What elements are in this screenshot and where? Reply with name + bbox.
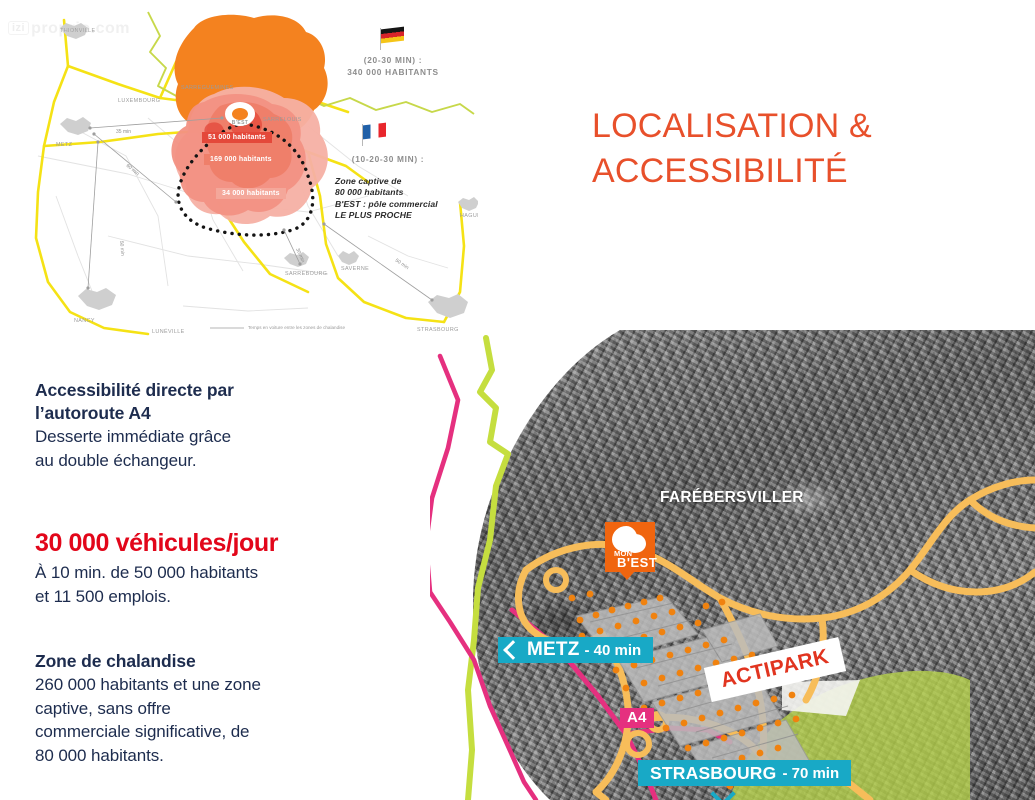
city-label: NANCY: [74, 318, 95, 324]
regional-catchment-map: B'EST: [8, 6, 478, 338]
city-label: SARRELOUIS: [263, 117, 302, 123]
zone-chip-label: 51 000 habitants: [208, 134, 266, 141]
page-title: LOCALISATION & ACCESSIBILITÉ: [592, 104, 1012, 194]
info-block-heading: Accessibilité directe par l’autoroute A4: [35, 379, 365, 425]
info-block-heading: 30 000 véhicules/jour: [35, 527, 395, 559]
zone-chip-label: 169 000 habitants: [210, 156, 272, 163]
zone-chip-51000: 51 000 habitants: [202, 132, 272, 143]
destination-time: - 40 min: [585, 642, 642, 659]
town-label-farebersviller: FARÉBERSVILLER: [660, 489, 804, 507]
city-label: LUXEMBOURG: [118, 98, 160, 104]
aerial-photo: [430, 330, 1035, 800]
map-legend-text: Temps en voiture entre les zones de chal…: [248, 325, 345, 330]
city-label: LUNÉVILLE: [152, 328, 185, 335]
captive-zone-note: Zone captive de 80 000 habitants B'EST :…: [335, 176, 478, 222]
destination-time: - 70 min: [782, 765, 839, 782]
slide-canvas: B'EST: [0, 0, 1035, 800]
info-block-traffic: 30 000 véhicules/jour À 10 min. de 50 00…: [35, 527, 395, 608]
city-label: METZ: [56, 142, 73, 148]
city-label: SARREBOURG: [285, 271, 327, 277]
zone-chip-169000: 169 000 habitants: [204, 154, 278, 165]
destination-name: METZ: [527, 639, 580, 661]
city-label: SARREGUEMINES: [181, 85, 234, 91]
info-block-body: 260 000 habitants et une zone captive, s…: [35, 673, 375, 767]
destination-badge-strasbourg[interactable]: STRASBOURG - 70 min: [638, 760, 851, 786]
france-catchment-note: (10-20-30 MIN) :: [318, 153, 458, 165]
zone-chip-label: 34 000 habitants: [222, 190, 280, 197]
destination-badge-metz[interactable]: METZ - 40 min: [498, 637, 653, 663]
info-block-catchment: Zone de chalandise 260 000 habitants et …: [35, 650, 375, 767]
info-block-heading: Zone de chalandise: [35, 650, 375, 673]
destination-name: STRASBOURG: [650, 763, 776, 784]
site-watermark: iziproprio.com: [8, 20, 208, 46]
pin-tip: [619, 571, 635, 580]
best-site-pin[interactable]: MON B'EST: [605, 522, 655, 580]
pin-label-line2: B'EST: [617, 555, 657, 570]
watermark-badge: izi: [8, 21, 29, 35]
chevron-left-icon: [503, 640, 523, 660]
drive-time-label: 35 min: [116, 129, 131, 135]
motorway-badge-a4: A4: [620, 708, 654, 728]
schematic-site-marker: B'EST: [232, 120, 249, 126]
info-block-accessibility: Accessibilité directe par l’autoroute A4…: [35, 379, 365, 472]
satellite-map: [430, 330, 1035, 800]
info-block-body: Desserte immédiate grâce au double échan…: [35, 425, 365, 472]
watermark-text: proprio.com: [31, 20, 130, 37]
info-block-body: À 10 min. de 50 000 habitants et 11 500 …: [35, 561, 395, 608]
zone-chip-34000: 34 000 habitants: [216, 188, 286, 199]
city-label: SAVERNE: [341, 266, 369, 272]
germany-catchment-note: (20-30 MIN) : 340 000 HABITANTS: [328, 54, 458, 78]
